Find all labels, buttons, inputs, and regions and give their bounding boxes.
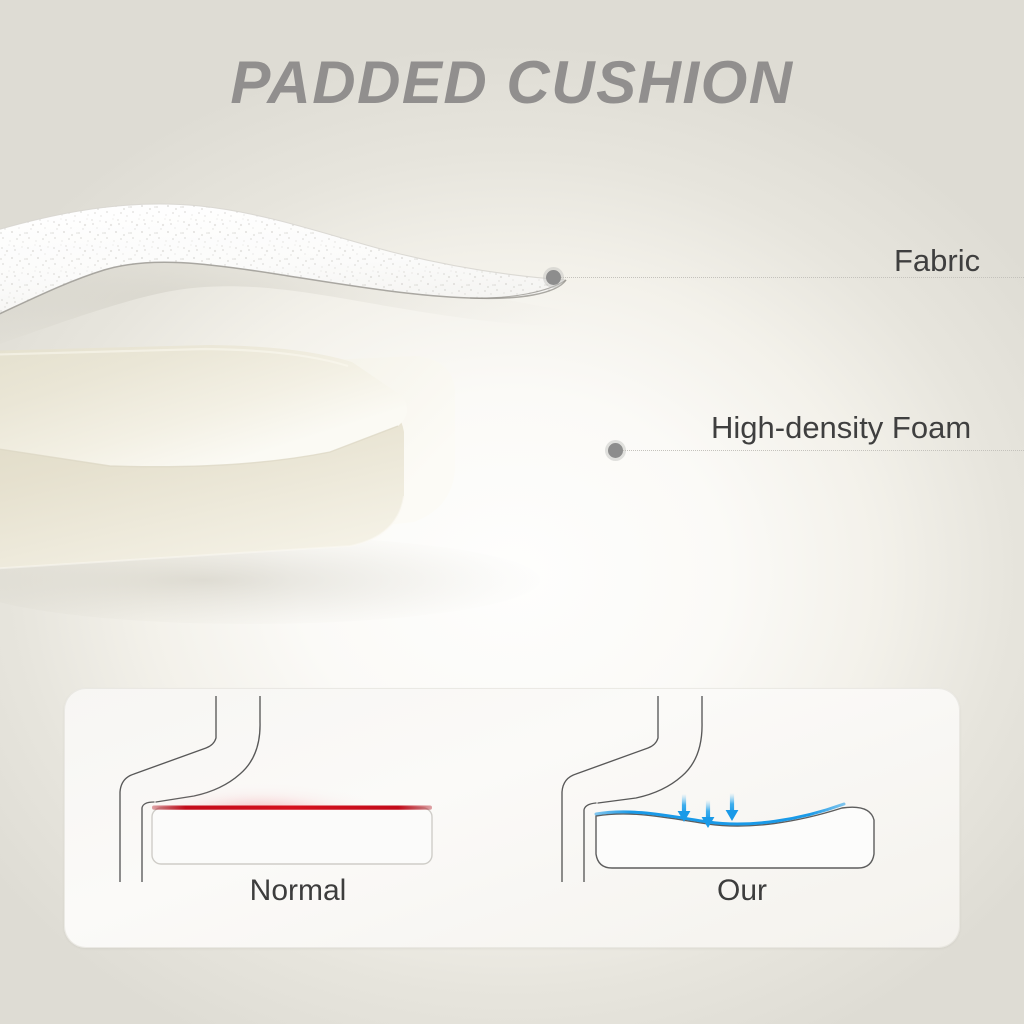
fabric-layer xyxy=(0,204,576,362)
down-arrow-icon xyxy=(726,793,739,821)
infographic-canvas: PADDED CUSHION xyxy=(0,0,1024,1024)
page-title: PADDED CUSHION xyxy=(0,48,1024,117)
our-cushion-diagram xyxy=(512,696,960,882)
callout-rule-foam xyxy=(623,450,1024,451)
comparison-cell-normal: Normal xyxy=(64,688,512,948)
normal-cushion-diagram xyxy=(64,696,512,882)
product-exploded-view xyxy=(0,140,700,660)
caption-our: Our xyxy=(512,874,960,908)
caption-normal: Normal xyxy=(64,874,512,908)
comparison-panel: Normal xyxy=(64,688,960,948)
callout-label-foam: High-density Foam xyxy=(711,410,971,446)
foam-layer xyxy=(0,345,540,624)
comparison-cell-our: Our xyxy=(512,688,960,948)
callout-dot-foam xyxy=(608,443,623,458)
callout-dot-fabric xyxy=(546,270,561,285)
pressure-line-normal xyxy=(152,806,432,810)
callout-label-fabric: Fabric xyxy=(894,243,980,279)
cushion-flat-normal xyxy=(152,806,432,865)
